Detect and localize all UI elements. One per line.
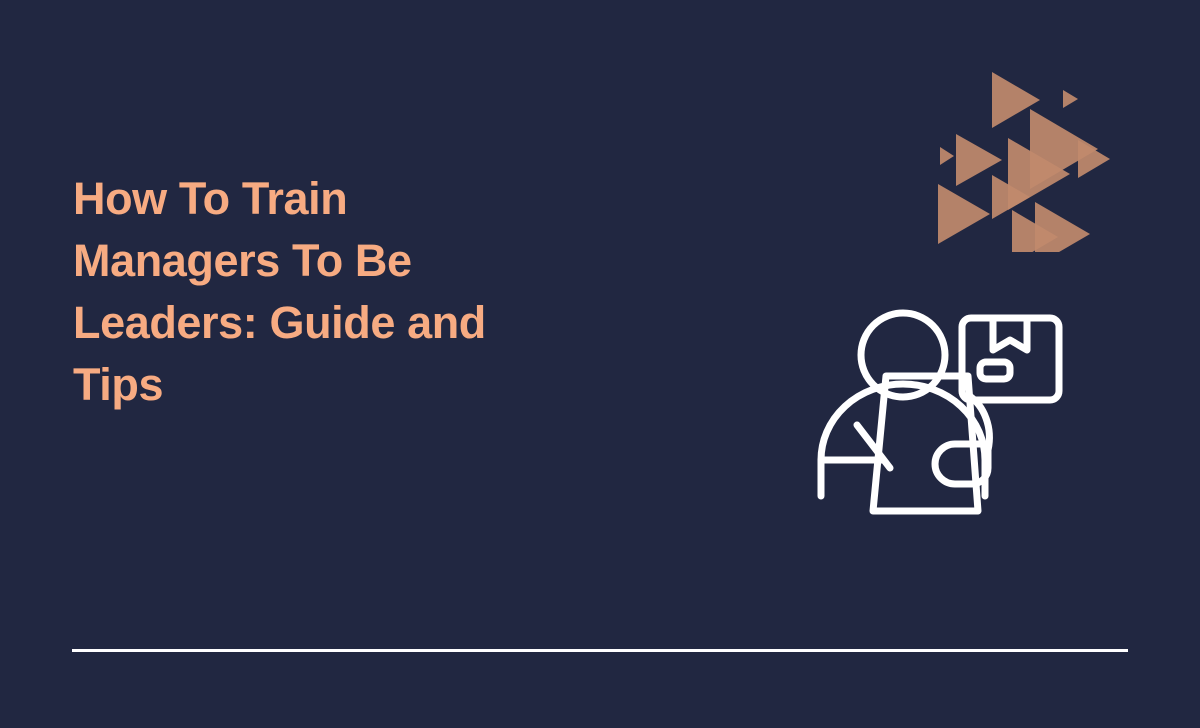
- triangle-shape: [940, 147, 954, 165]
- package-box-icon: [962, 318, 1059, 400]
- triangle-shape: [1078, 140, 1110, 178]
- triangle-shape: [1035, 202, 1090, 252]
- illustration-svg: [812, 300, 1082, 530]
- title-block: How To Train Managers To Be Leaders: Gui…: [73, 168, 543, 416]
- triangle-cluster: [930, 62, 1115, 252]
- box-label-icon: [980, 362, 1010, 379]
- bottom-divider: [72, 649, 1128, 652]
- banner-graphic: How To Train Managers To Be Leaders: Gui…: [0, 0, 1200, 728]
- triangle-shape: [1063, 90, 1078, 108]
- person-shoulders-icon: [821, 384, 985, 496]
- triangle-shape: [938, 184, 990, 244]
- page-title: How To Train Managers To Be Leaders: Gui…: [73, 168, 543, 416]
- box-flap-icon: [993, 318, 1027, 350]
- manager-with-clipboard-and-box-illustration: [812, 300, 1082, 530]
- triangle-cluster-svg: [930, 62, 1115, 252]
